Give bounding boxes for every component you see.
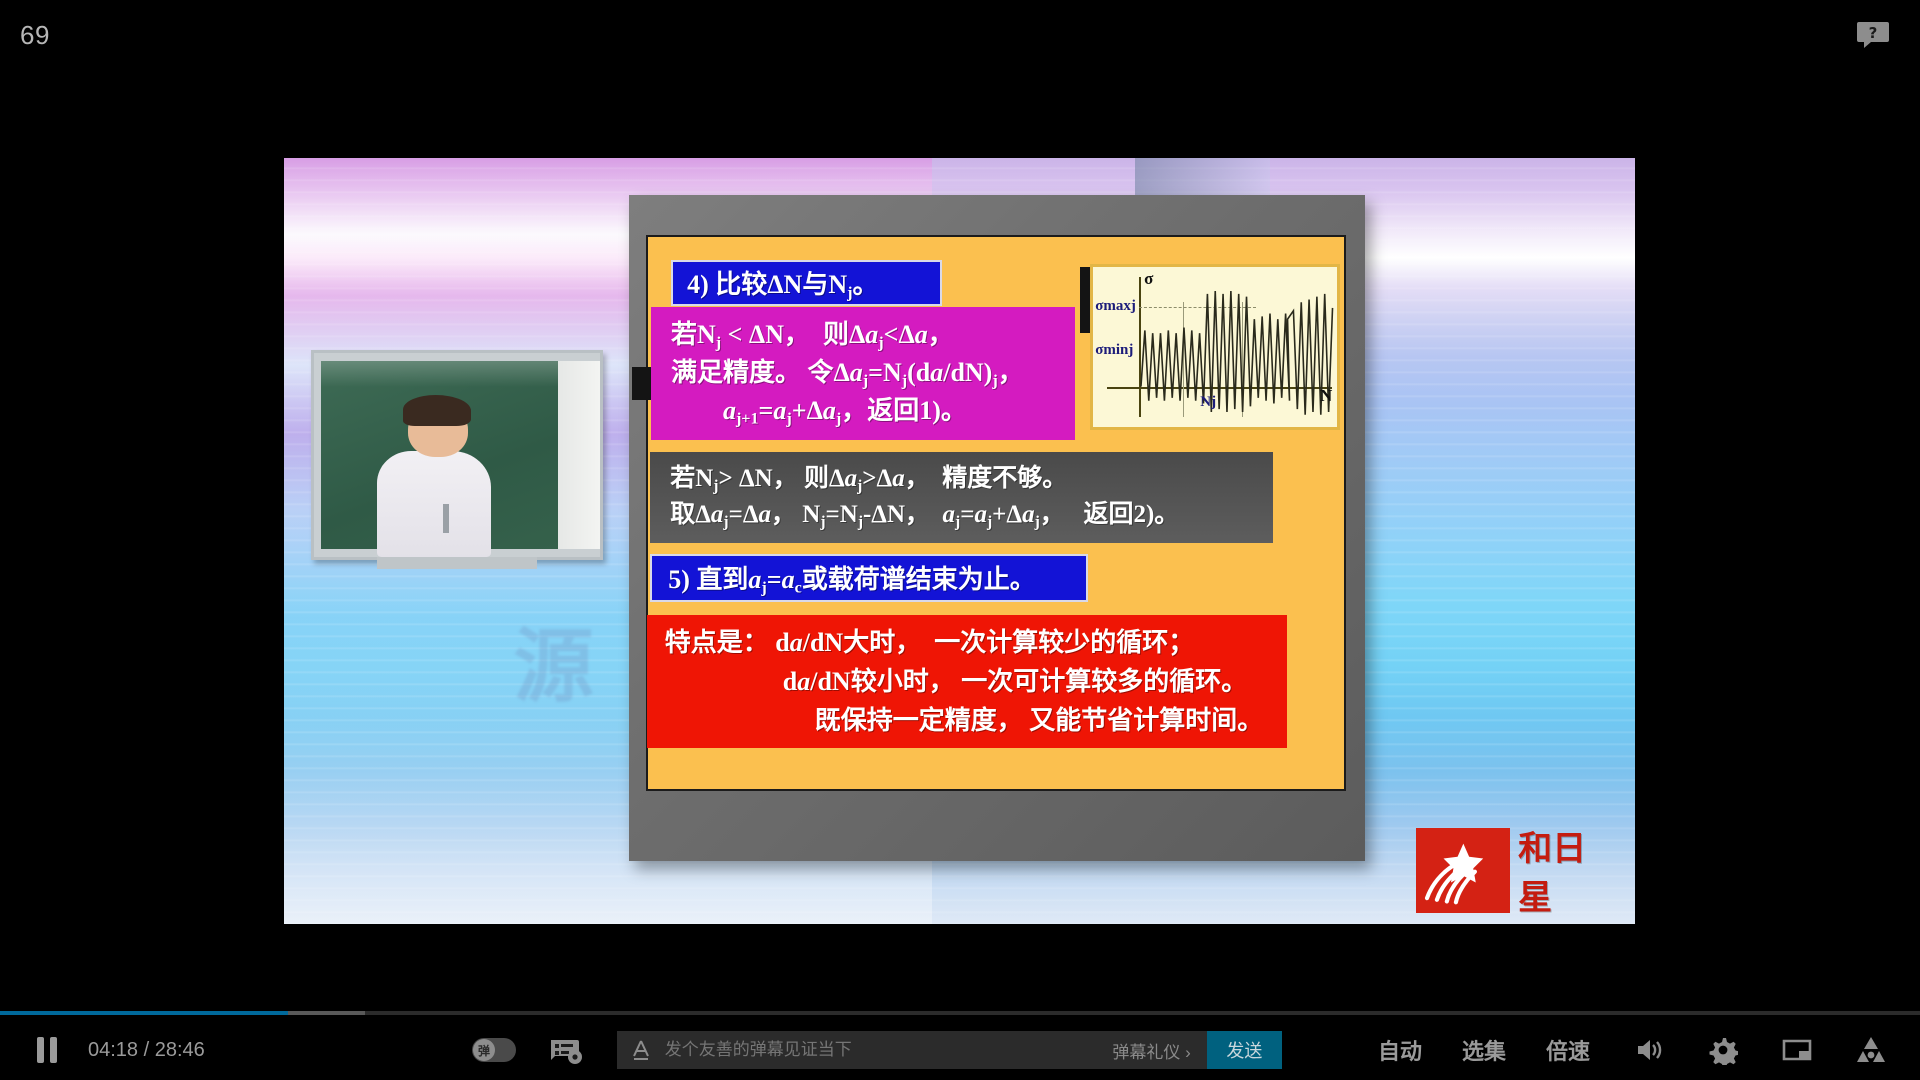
slide-summary-line3: 既保持一定精度， 又能节省计算时间。 xyxy=(665,701,1287,740)
progress-played xyxy=(0,1011,288,1015)
teacher-monitor xyxy=(311,350,603,561)
slide-step5-text: 5) 直到aj=ac或载荷谱结束为止。 xyxy=(668,559,1036,598)
pause-icon[interactable] xyxy=(30,1033,64,1067)
danmaku-send-button[interactable]: 发送 xyxy=(1207,1031,1282,1069)
slide-board: 4) 比较ΔN与Nj。 若Nj < ΔN， 则Δaj<Δa， 满足精度。 令Δa… xyxy=(629,195,1365,861)
lecturer-body xyxy=(377,451,491,557)
quality-button[interactable]: 自动 xyxy=(1378,1034,1422,1066)
lecturer-microphone xyxy=(443,504,449,533)
top-bar: 69 ? xyxy=(0,0,1920,70)
time-display: 04:18 / 28:46 xyxy=(88,1039,205,1062)
chart-y-axis-label: σ xyxy=(1144,269,1153,289)
slide-step4-text: 4) 比较ΔN与Nj。 xyxy=(687,264,878,303)
slide-content: 4) 比较ΔN与Nj。 若Nj < ΔN， 则Δaj<Δa， 满足精度。 令Δa… xyxy=(646,235,1345,791)
background-watermark: 源 xyxy=(514,602,602,718)
danmaku-input[interactable] xyxy=(651,1031,1097,1069)
danmaku-input-area[interactable]: 弹幕礼仪 › xyxy=(617,1031,1207,1069)
danmaku-etiquette-link[interactable]: 弹幕礼仪 › xyxy=(1096,1038,1206,1063)
font-style-icon[interactable] xyxy=(631,1039,651,1061)
slide-summary-line2: da/dN较小时， 一次可计算较多的循环。 xyxy=(665,662,1287,701)
channel-logo-text: 和日星 xyxy=(1518,821,1619,919)
slide-case2-line2: 取Δaj=Δa， Nj=Nj-ΔN， aj=aj+Δaj， 返回2)。 xyxy=(670,497,1272,534)
slide-case2-line1: 若Nj> ΔN， 则Δaj>Δa， 精度不够。 xyxy=(670,461,1272,498)
chart-sigma-max-label: σmaxj xyxy=(1095,298,1136,315)
episode-number: 69 xyxy=(20,20,50,51)
chart-x-axis-label: N xyxy=(1320,386,1332,406)
svg-text:弹: 弹 xyxy=(478,1043,490,1058)
channel-logo: 和日星 xyxy=(1416,828,1619,912)
lecturer-hair xyxy=(403,395,472,426)
classroom-side-wall xyxy=(558,361,599,549)
episodes-button[interactable]: 选集 xyxy=(1462,1034,1506,1066)
help-bubble-icon[interactable]: ? xyxy=(1856,20,1890,50)
slide-case1-line1: 若Nj < ΔN， 则Δaj<Δa， xyxy=(671,317,1075,355)
slide-step4-heading: 4) 比较ΔN与Nj。 xyxy=(671,260,942,306)
danmaku-settings-icon[interactable] xyxy=(549,1035,583,1065)
slide-step5-heading: 5) 直到aj=ac或载荷谱结束为止。 xyxy=(650,554,1088,602)
load-spectrum-chart: σ σmaxj σminj Nj N xyxy=(1090,264,1340,430)
chart-nj-label: Nj xyxy=(1200,394,1216,411)
slide-summary-line1: 特点是： da/dN大时， 一次计算较少的循环； xyxy=(665,623,1287,662)
web-fullscreen-icon[interactable] xyxy=(1856,1035,1886,1065)
slide-case2-block: 若Nj> ΔN， 则Δaj>Δa， 精度不够。 取Δaj=Δa， Nj=Nj-Δ… xyxy=(650,452,1272,544)
shooting-star-icon xyxy=(1416,828,1510,912)
monitor-base xyxy=(377,557,537,569)
chalkboard-glare xyxy=(321,361,558,387)
chart-waveform xyxy=(1139,277,1334,418)
video-frame[interactable]: 源 4) 比较ΔN与Nj。 若Nj < ΔN， 则Δaj<Δa， xyxy=(284,158,1635,924)
slide-case1-block: 若Nj < ΔN， 则Δaj<Δa， 满足精度。 令Δaj=Nj(da/dN)j… xyxy=(651,307,1075,440)
player-control-bar: 04:18 / 28:46 弹 弹幕礼仪 › 发送 自动 选集 xyxy=(0,1020,1920,1080)
slide-case1-line3: aj+1=aj+Δaj，返回1)。 xyxy=(671,393,1075,431)
danmaku-toggle-icon[interactable]: 弹 xyxy=(471,1037,517,1063)
slide-case1-line2: 满足精度。 令Δaj=Nj(da/dN)j， xyxy=(671,355,1075,393)
chart-sigma-min-label: σminj xyxy=(1095,342,1133,359)
speed-button[interactable]: 倍速 xyxy=(1546,1034,1590,1066)
slide-summary-block: 特点是： da/dN大时， 一次计算较少的循环； da/dN较小时， 一次可计算… xyxy=(647,615,1287,748)
gear-icon[interactable] xyxy=(1708,1035,1738,1065)
svg-text:?: ? xyxy=(1869,24,1878,42)
picture-in-picture-icon[interactable] xyxy=(1782,1035,1812,1065)
video-stage[interactable]: 源 4) 比较ΔN与Nj。 若Nj < ΔN， 则Δaj<Δa， xyxy=(0,70,1920,1005)
volume-icon[interactable] xyxy=(1634,1035,1664,1065)
progress-bar[interactable] xyxy=(0,1008,1920,1018)
